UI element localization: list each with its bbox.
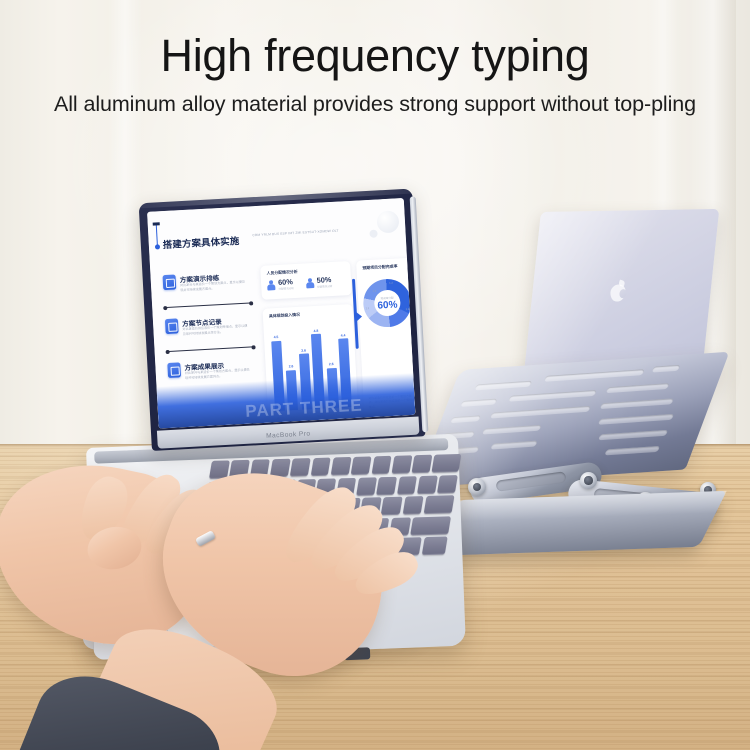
bar-value-label: 4.8: [314, 329, 319, 333]
key[interactable]: [371, 456, 392, 475]
key[interactable]: [310, 458, 331, 477]
person-icon: [267, 280, 276, 291]
bar-value-label: 2.6: [329, 362, 334, 366]
slide-subtitle: CRM YRLM BUS ESP IMT ZMI ESTSUT-XOMDW OL…: [252, 228, 342, 238]
people-stats-card: 人员分配情况分析 60% 分配情况分析: [260, 261, 352, 300]
product-marketing-image: High frequency typing All aluminum alloy…: [0, 0, 750, 750]
left-laptop-assembly: 搭建方案具体实施 CRM YRLM BUS ESP IMT ZMI ESTSUT…: [0, 0, 750, 750]
donut-center-value: 60%: [377, 299, 398, 311]
key[interactable]: [356, 477, 377, 496]
key-return[interactable]: [424, 495, 455, 514]
card-title: 具体规划投入情况: [269, 312, 300, 320]
stat-label: 分配情况分析: [278, 286, 294, 291]
bar-value-label: 3.6: [301, 348, 306, 352]
key[interactable]: [432, 454, 462, 473]
presentation-slide: 搭建方案具体实施 CRM YRLM BUS ESP IMT ZMI ESTSUT…: [147, 198, 415, 429]
image-icon: [165, 318, 179, 334]
document-icon: [163, 274, 177, 290]
decorative-circle: [369, 229, 377, 237]
connector-arrow: [356, 311, 363, 321]
bar-value-label: 4.4: [341, 333, 346, 337]
key[interactable]: [391, 455, 412, 474]
segment-label: 1.1: [366, 307, 370, 310]
bar-value-label: 4.5: [274, 335, 279, 339]
chart-icon: [167, 362, 181, 378]
key-arrow[interactable]: [422, 537, 448, 556]
people-stat-row: 60% 分配情况分析 50% 分配情况分析: [267, 276, 333, 292]
person-icon: [305, 278, 314, 289]
key[interactable]: [437, 475, 458, 494]
laptop-screen[interactable]: 搭建方案具体实施 CRM YRLM BUS ESP IMT ZMI ESTSUT…: [147, 198, 415, 429]
card-title: 人员分配情况分析: [266, 269, 297, 277]
key[interactable]: [417, 475, 438, 494]
decorative-circle: [376, 210, 399, 233]
key[interactable]: [381, 497, 403, 516]
stat-label: 分配情况分析: [317, 284, 333, 289]
segment-label: 1.3: [406, 308, 410, 311]
title-dot: [155, 244, 160, 249]
key-shift[interactable]: [410, 516, 451, 535]
key[interactable]: [331, 457, 352, 476]
key[interactable]: [412, 455, 433, 474]
slide-title: 搭建方案具体实施: [162, 233, 239, 251]
segment-label: 1.4: [373, 290, 377, 293]
laptop-lid: 搭建方案具体实施 CRM YRLM BUS ESP IMT ZMI ESTSUT…: [139, 189, 426, 451]
stat-item: 50% 分配情况分析: [305, 276, 332, 289]
key[interactable]: [376, 476, 397, 495]
slide-bullet-list: 方案演示排练 对比某分与某造价一个策划方案点，显示以便见现并可持续发展方案点。 …: [162, 268, 261, 397]
key[interactable]: [402, 496, 424, 515]
stat-item: 60% 分配情况分析: [267, 278, 294, 291]
bar-value-label: 2.6: [289, 364, 294, 368]
donut-chart: 1.2 1.4 1.1 1.3 完成率分配 60%: [362, 278, 413, 329]
card-title: 预期项目分配完成率: [362, 263, 397, 271]
title-rule-cap: [153, 222, 160, 225]
key[interactable]: [290, 458, 311, 477]
key[interactable]: [351, 456, 372, 475]
laptop-brand-label: MacBook Pro: [266, 430, 311, 439]
segment-label: 1.2: [389, 282, 393, 285]
key[interactable]: [397, 476, 418, 495]
